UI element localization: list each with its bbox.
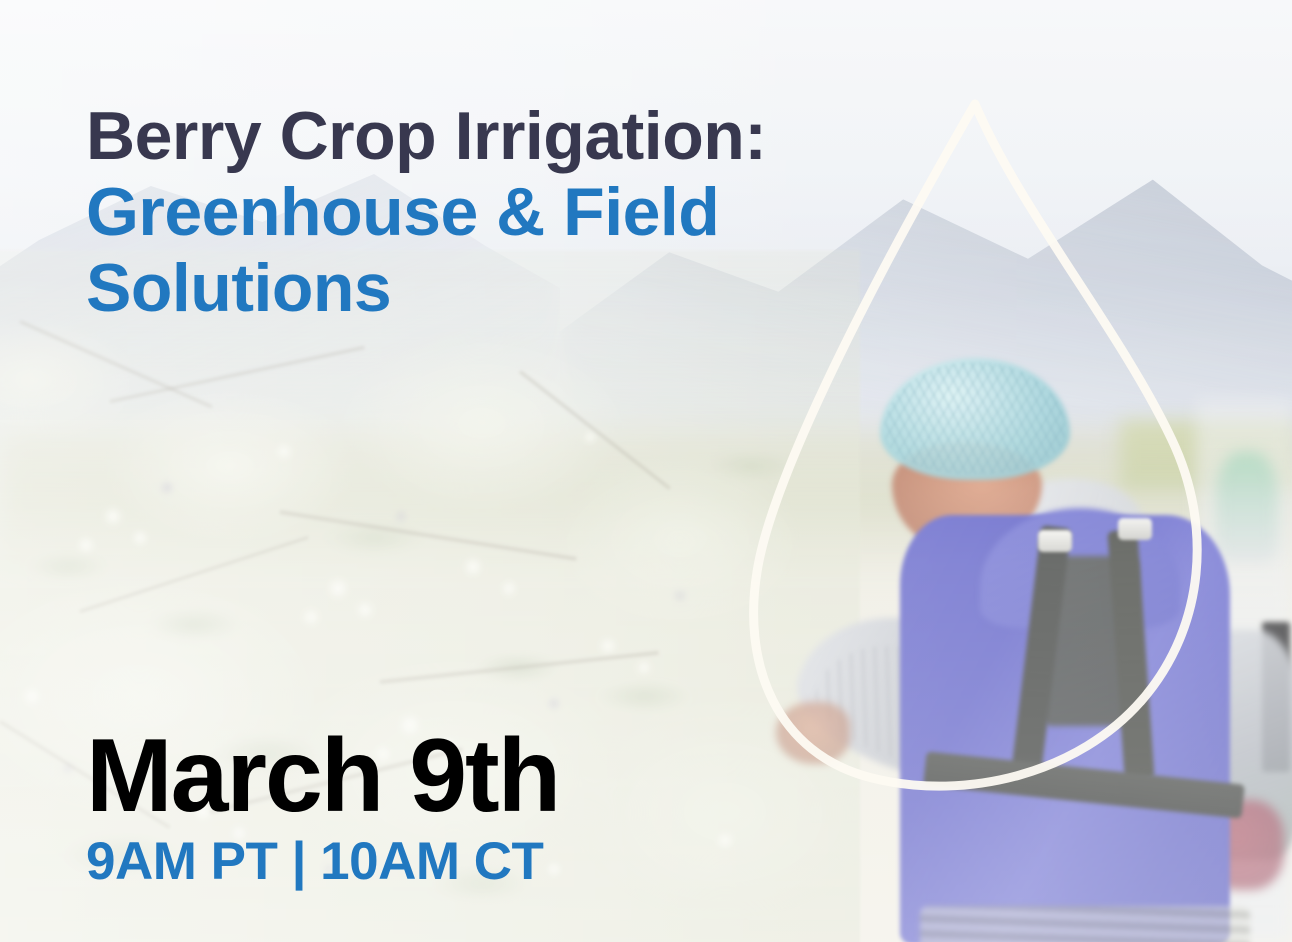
- event-date-block: March 9th 9AM PT | 10AM CT: [86, 724, 559, 891]
- headline-line-1: Berry Crop Irrigation:: [86, 98, 846, 174]
- event-date: March 9th: [86, 724, 559, 828]
- headline-line-2: Greenhouse & Field: [86, 174, 846, 250]
- headline: Berry Crop Irrigation: Greenhouse & Fiel…: [86, 98, 846, 326]
- event-times: 9AM PT | 10AM CT: [86, 832, 559, 891]
- headline-line-3: Solutions: [86, 250, 846, 326]
- promo-banner: Berry Crop Irrigation: Greenhouse & Fiel…: [0, 0, 1292, 942]
